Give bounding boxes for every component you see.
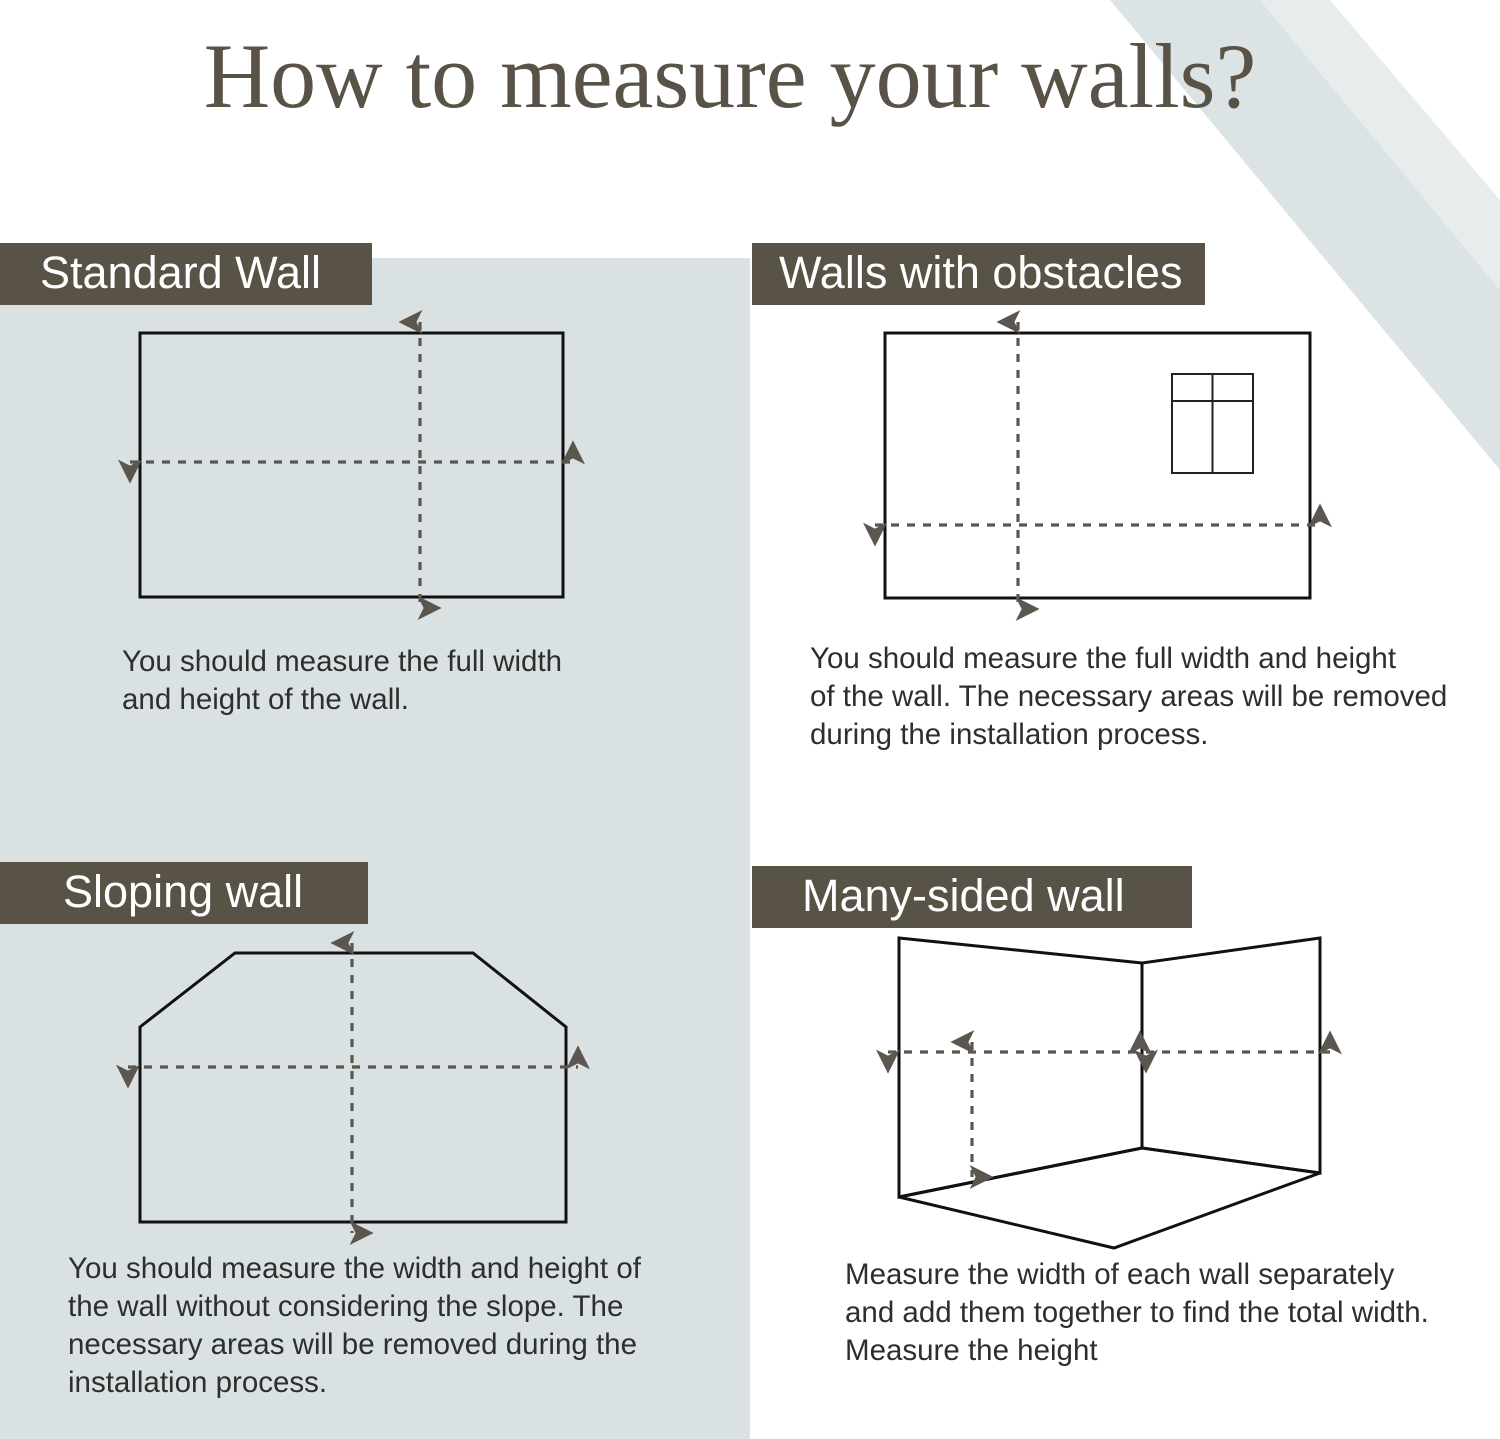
floor-plane <box>899 1148 1320 1248</box>
page-title: How to measure your walls? <box>0 28 1460 125</box>
window-obstacle-icon <box>1172 374 1253 473</box>
section-badge-standard-wall: Standard Wall <box>0 243 372 305</box>
wall-outline <box>140 333 563 597</box>
infographic-page: How to measure your walls? Standard Wall… <box>0 0 1500 1439</box>
caption-standard-wall: You should measure the full width and he… <box>122 643 642 719</box>
section-badge-label: Walls with obstacles <box>752 243 1205 303</box>
wall-outline <box>885 333 1310 598</box>
caption-sloping-wall: You should measure the width and height … <box>68 1250 688 1402</box>
section-badge-sloping-wall: Sloping wall <box>0 862 368 924</box>
section-badge-label: Standard Wall <box>0 243 372 303</box>
caption-walls-with-obstacles: You should measure the full width and he… <box>810 640 1470 754</box>
wall-left-panel <box>899 938 1142 1197</box>
wall-right-panel <box>1142 938 1320 1173</box>
section-badge-walls-with-obstacles: Walls with obstacles <box>752 243 1205 305</box>
diagram-sloping-wall <box>100 925 620 1255</box>
section-badge-label: Sloping wall <box>0 862 368 922</box>
diagram-standard-wall <box>100 310 620 630</box>
diagram-walls-with-obstacles <box>850 310 1370 630</box>
diagram-many-sided-wall <box>860 915 1360 1270</box>
caption-many-sided-wall: Measure the width of each wall separatel… <box>845 1256 1465 1370</box>
